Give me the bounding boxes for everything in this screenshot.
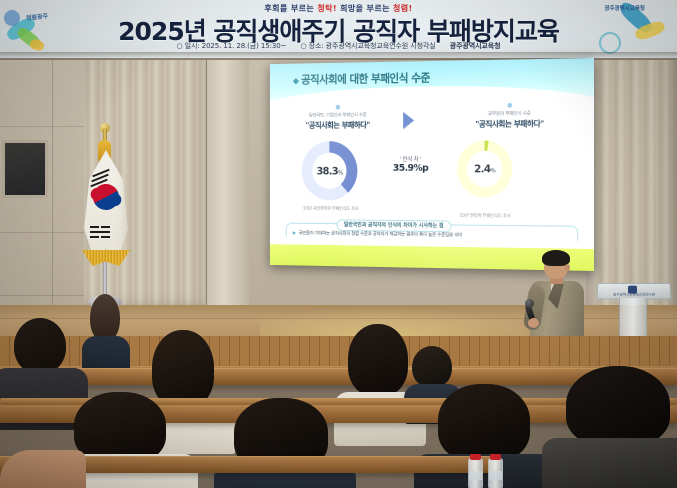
slide-title: ◆공직사회에 대한 부패인식 수준 <box>293 70 430 88</box>
korean-flag <box>72 128 138 310</box>
flag-pole-stand <box>103 262 107 298</box>
banner-organization: 광주광역시교육청 <box>450 42 501 50</box>
wall-pillar <box>206 34 249 324</box>
audience-person <box>0 446 70 488</box>
event-banner: 청렴광주 광주광역시교육청 후회를 부르는 청탁! 희망을 부르는 청렴! 20… <box>0 0 677 60</box>
bottle-cap <box>490 454 501 460</box>
donut-left-source: '23년 국민권익위 부패인식도 조사 <box>273 206 390 213</box>
banner-subinfo: ○ 일시: 2025. 11. 28.(금) 15:30~ ○ 장소: 광주광역… <box>0 41 677 51</box>
audience-person <box>556 366 677 488</box>
callout-header: 일반국민과 공직자의 인식의 차이가 시사하는 점 <box>337 219 452 232</box>
slide-title-text: 공직사회에 대한 부패인식 수준 <box>301 71 430 86</box>
donut-right-center: 2.4% <box>467 151 502 187</box>
donut-right-value: 2.4% <box>474 163 495 176</box>
water-bottle <box>468 458 483 488</box>
triangle-bullet-icon: ▶ <box>293 231 296 236</box>
banner-datetime: ○ 일시: 2025. 11. 28.(금) 15:30~ <box>177 42 287 50</box>
podium-label: 광주광역시교육청교육연수원 <box>598 293 671 298</box>
banner-location: ○ 장소: 광주광역시교육청교육연수원 시청각실 <box>300 42 435 50</box>
compare-right-caption: 공무원의 부패인식 수준 <box>448 109 573 117</box>
slide-title-diamond-icon: ◆ <box>293 77 299 87</box>
perception-gap-block: ' 인식 차 ' 35.9%p <box>376 154 446 173</box>
audience-person <box>222 398 342 488</box>
compare-right-statement: "공직사회는 부패하다" <box>448 118 573 130</box>
bottle-cap <box>470 454 481 460</box>
donut-left-value: 38.3% <box>316 165 342 177</box>
right-arrow-icon <box>403 112 414 130</box>
compare-right-block: 공무원의 부패인식 수준 "공직사회는 부패하다" <box>448 102 573 129</box>
compare-left-caption: 일반국민, 기업인의 부패인식 수준 <box>284 111 392 119</box>
compare-left-statement: "공직사회는 부패하다" <box>284 119 392 130</box>
bullet-dot-icon <box>335 105 340 110</box>
wall-vent <box>2 140 48 198</box>
presentation-slide: ◆공직사회에 대한 부패인식 수준 일반국민, 기업인의 부패인식 수준 "공직… <box>270 58 594 271</box>
donut-right-source: '23년 권익위 부패인식도 조사 <box>423 213 547 220</box>
donut-chart-public: 38.3% <box>302 141 358 200</box>
compare-left-block: 일반국민, 기업인의 부패인식 수준 "공직사회는 부패하다" <box>284 104 392 130</box>
bullet-dot-icon <box>507 103 512 108</box>
gap-label: ' 인식 차 ' <box>376 154 446 163</box>
gap-value: 35.9%p <box>376 163 446 174</box>
donut-chart-officials: 2.4% <box>457 140 512 197</box>
projection-screen: ◆공직사회에 대한 부패인식 수준 일반국민, 기업인의 부패인식 수준 "공직… <box>270 58 594 271</box>
donut-left-center: 38.3% <box>312 153 346 189</box>
water-bottle <box>488 458 503 488</box>
photo-scene: 청렴광주 광주광역시교육청 후회를 부르는 청탁! 희망을 부르는 청렴! 20… <box>0 0 677 488</box>
